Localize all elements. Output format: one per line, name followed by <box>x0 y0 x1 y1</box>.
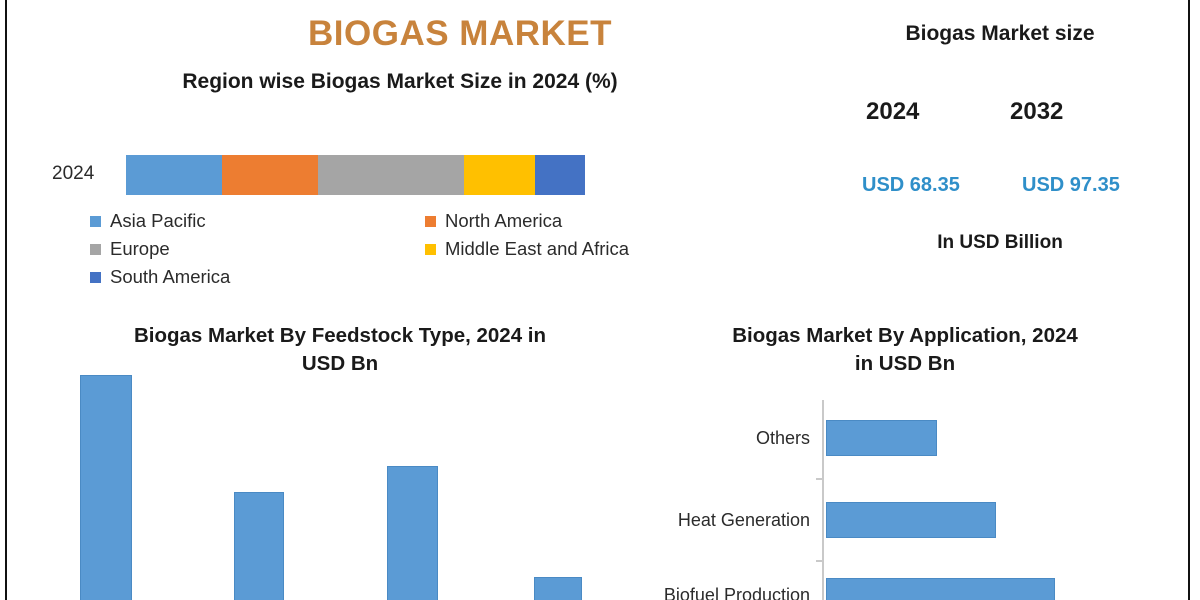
application-label-biofuel-production: Biofuel Production <box>590 585 810 600</box>
market-size-year-start: 2024 <box>866 98 919 126</box>
feedstock-bar-4 <box>534 577 582 600</box>
market-size-unit-note: In USD Billion <box>855 232 1145 254</box>
legend-swatch-icon <box>425 244 436 255</box>
market-size-title: Biogas Market size <box>855 22 1145 46</box>
region-chart-title: Region wise Biogas Market Size in 2024 (… <box>80 70 720 94</box>
stack-segment-europe <box>318 155 464 195</box>
feedstock-title-line-1: Biogas Market By Feedstock Type, 2024 in <box>60 322 620 350</box>
page-title: BIOGAS MARKET <box>140 14 780 54</box>
feedstock-title-line-2: USD Bn <box>60 350 620 378</box>
application-chart-axis <box>822 400 824 600</box>
feedstock-bar-3 <box>387 466 438 600</box>
biogas-market-infographic: BIOGAS MARKET Region wise Biogas Market … <box>0 0 1200 600</box>
legend-swatch-icon <box>90 244 101 255</box>
feedstock-bar-1 <box>80 375 132 600</box>
application-title-line-1: Biogas Market By Application, 2024 <box>655 322 1155 350</box>
region-legend: Asia Pacific North America Europe Middle… <box>90 207 690 291</box>
frame-border-left <box>5 0 7 600</box>
application-axis-tick <box>816 560 823 562</box>
legend-row: Asia Pacific North America <box>90 207 690 235</box>
stack-segment-north-america <box>222 155 318 195</box>
legend-item-asia-pacific: Asia Pacific <box>90 210 425 232</box>
market-size-year-end: 2032 <box>1010 98 1063 126</box>
stack-segment-south-america <box>535 155 585 195</box>
legend-item-middle-east-and-africa: Middle East and Africa <box>425 238 690 260</box>
legend-swatch-icon <box>90 272 101 283</box>
application-label-others: Others <box>640 428 810 449</box>
application-bar-others <box>826 420 937 456</box>
application-axis-tick <box>816 478 823 480</box>
legend-label: North America <box>445 210 562 232</box>
region-bar-year-label: 2024 <box>52 163 94 185</box>
application-title-line-2: in USD Bn <box>655 350 1155 378</box>
legend-label: Asia Pacific <box>110 210 206 232</box>
legend-row: Europe Middle East and Africa <box>90 235 690 263</box>
legend-label: Middle East and Africa <box>445 238 629 260</box>
feedstock-chart-title: Biogas Market By Feedstock Type, 2024 in… <box>60 322 620 378</box>
legend-label: Europe <box>110 238 170 260</box>
market-size-value-start: USD 68.35 <box>862 174 960 197</box>
legend-item-north-america: North America <box>425 210 690 232</box>
stack-segment-asia-pacific <box>126 155 222 195</box>
legend-label: South America <box>110 266 230 288</box>
legend-row: South America <box>90 263 690 291</box>
market-size-value-end: USD 97.35 <box>1022 174 1120 197</box>
legend-item-south-america: South America <box>90 266 425 288</box>
application-chart-title: Biogas Market By Application, 2024 in US… <box>655 322 1155 378</box>
application-label-heat-generation: Heat Generation <box>600 510 810 531</box>
feedstock-bar-2 <box>234 492 284 600</box>
application-bar-heat-generation <box>826 502 996 538</box>
application-bar-biofuel-production <box>826 578 1055 600</box>
frame-border-right <box>1188 0 1190 600</box>
legend-swatch-icon <box>90 216 101 227</box>
legend-swatch-icon <box>425 216 436 227</box>
stack-segment-middle-east-and-africa <box>464 155 535 195</box>
legend-item-europe: Europe <box>90 238 425 260</box>
region-stacked-bar <box>126 155 585 195</box>
